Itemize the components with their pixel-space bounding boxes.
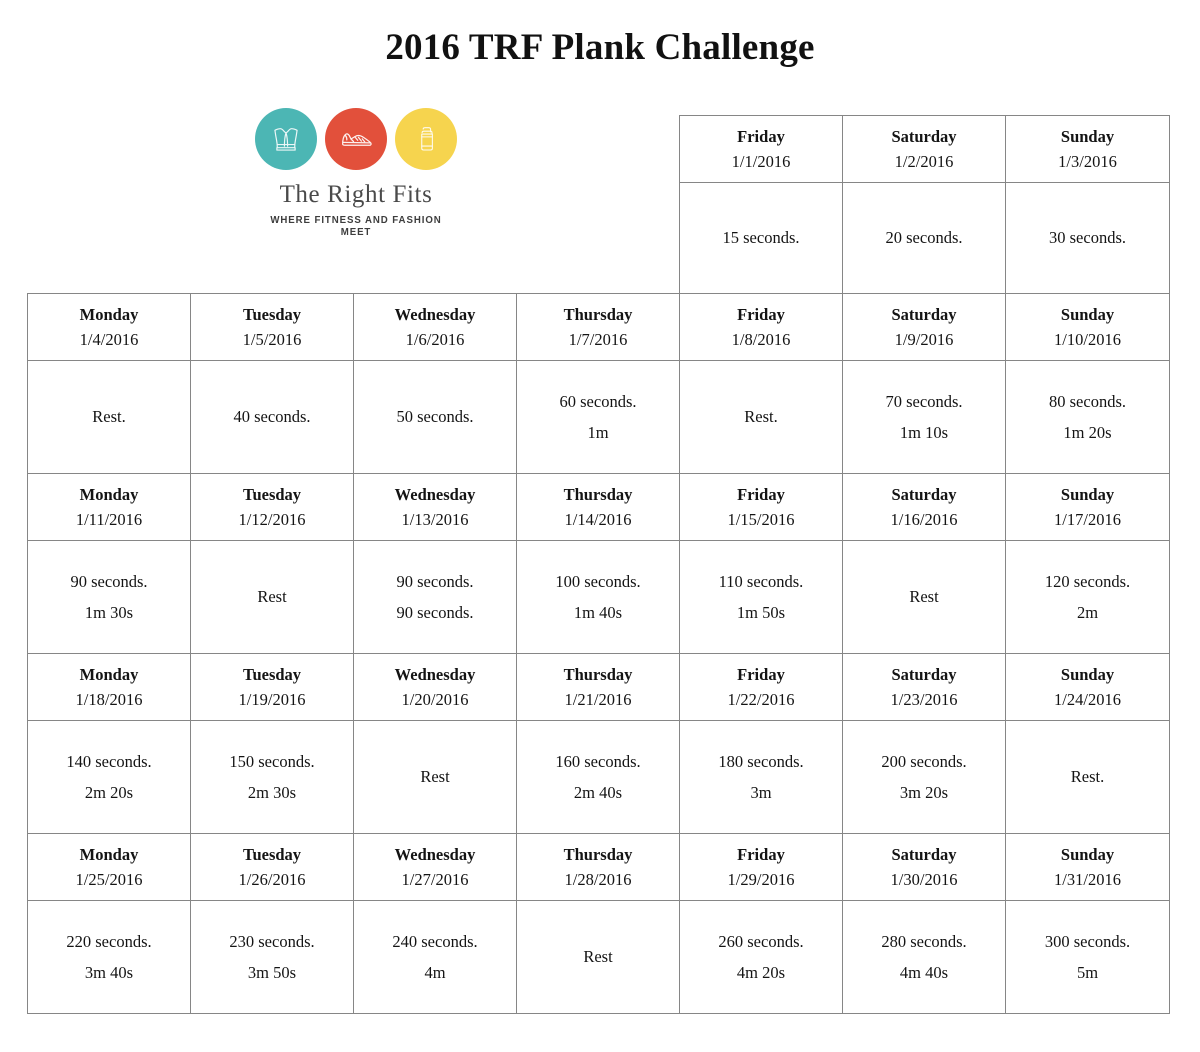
duration-cell: 60 seconds.1m xyxy=(517,361,680,474)
duration-seconds: 40 seconds. xyxy=(191,401,353,432)
day-name: Tuesday xyxy=(243,845,301,864)
duration-cell: 100 seconds.1m 40s xyxy=(517,541,680,654)
day-header-cell: Thursday1/14/2016 xyxy=(517,474,680,541)
day-name: Saturday xyxy=(891,305,956,324)
day-name: Monday xyxy=(80,485,139,504)
duration-seconds: Rest. xyxy=(28,401,190,432)
day-date: 1/15/2016 xyxy=(728,510,795,529)
day-name: Monday xyxy=(80,665,139,684)
duration-seconds: 30 seconds. xyxy=(1006,222,1169,253)
day-header-cell: Monday1/18/2016 xyxy=(28,654,191,721)
duration-minutes: 1m 20s xyxy=(1006,417,1169,448)
duration-cell: 160 seconds.2m 40s xyxy=(517,721,680,834)
day-date: 1/29/2016 xyxy=(728,870,795,889)
duration-seconds: Rest xyxy=(517,941,679,972)
running-shoe-icon xyxy=(336,119,376,159)
duration-cell: 180 seconds.3m xyxy=(680,721,843,834)
day-header-cell: Friday1/22/2016 xyxy=(680,654,843,721)
duration-seconds: 80 seconds. xyxy=(1006,386,1169,417)
day-date: 1/23/2016 xyxy=(891,690,958,709)
logo-circle-running-shoe xyxy=(325,108,387,170)
duration-cell: Rest. xyxy=(1006,721,1170,834)
day-header-cell: Sunday1/17/2016 xyxy=(1006,474,1170,541)
duration-seconds: 300 seconds. xyxy=(1006,926,1169,957)
day-name: Monday xyxy=(80,305,139,324)
duration-minutes: 2m 30s xyxy=(191,777,353,808)
duration-seconds: 50 seconds. xyxy=(354,401,516,432)
duration-minutes: 3m 40s xyxy=(28,957,190,988)
day-header-cell: Sunday1/24/2016 xyxy=(1006,654,1170,721)
duration-minutes: 4m 20s xyxy=(680,957,842,988)
duration-minutes: 1m xyxy=(517,417,679,448)
plank-table-main: Monday1/4/2016 Tuesday1/5/2016 Wednesday… xyxy=(27,293,1170,1014)
table-row-duration: 140 seconds.2m 20s 150 seconds.2m 30s Re… xyxy=(28,721,1170,834)
duration-cell: 240 seconds.4m xyxy=(354,901,517,1014)
day-name: Wednesday xyxy=(395,305,476,324)
day-date: 1/5/2016 xyxy=(243,330,302,349)
day-date: 1/31/2016 xyxy=(1054,870,1121,889)
duration-minutes: 2m 20s xyxy=(28,777,190,808)
day-name: Friday xyxy=(737,127,785,146)
logo-circle-water-bottle xyxy=(395,108,457,170)
duration-minutes: 5m xyxy=(1006,957,1169,988)
duration-minutes: 1m 40s xyxy=(517,597,679,628)
day-header-cell: Sunday 1/3/2016 xyxy=(1006,116,1170,183)
day-date: 1/24/2016 xyxy=(1054,690,1121,709)
day-header-cell: Saturday1/9/2016 xyxy=(843,294,1006,361)
day-name: Thursday xyxy=(564,305,633,324)
day-header-cell: Saturday 1/2/2016 xyxy=(843,116,1006,183)
duration-minutes: 90 seconds. xyxy=(354,597,516,628)
day-date: 1/1/2016 xyxy=(732,152,791,171)
duration-minutes: 1m 10s xyxy=(843,417,1005,448)
duration-cell: 110 seconds.1m 50s xyxy=(680,541,843,654)
day-date: 1/12/2016 xyxy=(239,510,306,529)
duration-seconds: 150 seconds. xyxy=(191,746,353,777)
day-date: 1/3/2016 xyxy=(1058,152,1117,171)
logo-circle-sports-bra xyxy=(255,108,317,170)
day-header-cell: Tuesday1/5/2016 xyxy=(191,294,354,361)
day-header-cell: Wednesday1/6/2016 xyxy=(354,294,517,361)
day-date: 1/11/2016 xyxy=(76,510,142,529)
day-name: Wednesday xyxy=(395,665,476,684)
day-name: Friday xyxy=(737,305,785,324)
duration-seconds: Rest xyxy=(354,761,516,792)
duration-cell: 90 seconds.90 seconds. xyxy=(354,541,517,654)
plank-table-week-0: Friday 1/1/2016 Saturday 1/2/2016 Sunday… xyxy=(679,115,1170,294)
duration-cell: Rest. xyxy=(680,361,843,474)
day-header-cell: Tuesday1/12/2016 xyxy=(191,474,354,541)
duration-seconds: 110 seconds. xyxy=(680,566,842,597)
duration-seconds: 90 seconds. xyxy=(28,566,190,597)
day-name: Saturday xyxy=(891,127,956,146)
duration-minutes: 2m xyxy=(1006,597,1169,628)
day-name: Sunday xyxy=(1061,485,1114,504)
day-header-cell: Thursday1/7/2016 xyxy=(517,294,680,361)
day-header-cell: Monday1/25/2016 xyxy=(28,834,191,901)
duration-minutes: 2m 40s xyxy=(517,777,679,808)
table-row-day-header: Monday1/18/2016 Tuesday1/19/2016 Wednesd… xyxy=(28,654,1170,721)
day-name: Wednesday xyxy=(395,485,476,504)
duration-cell: 40 seconds. xyxy=(191,361,354,474)
day-header-cell: Tuesday1/19/2016 xyxy=(191,654,354,721)
day-header-cell: Monday1/4/2016 xyxy=(28,294,191,361)
day-date: 1/6/2016 xyxy=(406,330,465,349)
duration-cell: 220 seconds.3m 40s xyxy=(28,901,191,1014)
duration-seconds: 100 seconds. xyxy=(517,566,679,597)
day-date: 1/20/2016 xyxy=(402,690,469,709)
duration-minutes: 1m 30s xyxy=(28,597,190,628)
table-row-duration: 15 seconds. 20 seconds. 30 seconds. xyxy=(680,183,1170,294)
duration-minutes: 4m xyxy=(354,957,516,988)
day-header-cell: Friday1/29/2016 xyxy=(680,834,843,901)
duration-cell: Rest. xyxy=(28,361,191,474)
day-header-cell: Wednesday1/20/2016 xyxy=(354,654,517,721)
day-header-cell: Thursday1/28/2016 xyxy=(517,834,680,901)
duration-cell: Rest xyxy=(843,541,1006,654)
day-header-cell: Tuesday1/26/2016 xyxy=(191,834,354,901)
duration-seconds: 160 seconds. xyxy=(517,746,679,777)
day-name: Thursday xyxy=(564,845,633,864)
day-name: Saturday xyxy=(891,485,956,504)
logo-icon-row xyxy=(250,108,462,170)
day-header-cell: Sunday1/10/2016 xyxy=(1006,294,1170,361)
duration-seconds: 220 seconds. xyxy=(28,926,190,957)
duration-seconds: 120 seconds. xyxy=(1006,566,1169,597)
duration-cell: 140 seconds.2m 20s xyxy=(28,721,191,834)
table-row-day-header: Monday1/25/2016 Tuesday1/26/2016 Wednesd… xyxy=(28,834,1170,901)
day-name: Tuesday xyxy=(243,305,301,324)
duration-cell: 280 seconds.4m 40s xyxy=(843,901,1006,1014)
day-name: Sunday xyxy=(1061,665,1114,684)
duration-cell: 150 seconds.2m 30s xyxy=(191,721,354,834)
day-header-cell: Friday1/15/2016 xyxy=(680,474,843,541)
logo-wordmark: The Right Fits xyxy=(250,181,462,209)
duration-seconds: 140 seconds. xyxy=(28,746,190,777)
duration-seconds: 60 seconds. xyxy=(517,386,679,417)
day-date: 1/30/2016 xyxy=(891,870,958,889)
duration-seconds: 20 seconds. xyxy=(843,222,1005,253)
day-header-cell: Friday 1/1/2016 xyxy=(680,116,843,183)
duration-seconds: 240 seconds. xyxy=(354,926,516,957)
day-header-cell: Wednesday1/27/2016 xyxy=(354,834,517,901)
duration-seconds: 280 seconds. xyxy=(843,926,1005,957)
duration-cell: 15 seconds. xyxy=(680,183,843,294)
day-date: 1/19/2016 xyxy=(239,690,306,709)
sports-bra-icon xyxy=(267,120,305,158)
duration-seconds: Rest xyxy=(191,581,353,612)
day-date: 1/26/2016 xyxy=(239,870,306,889)
day-date: 1/16/2016 xyxy=(891,510,958,529)
duration-minutes: 3m 20s xyxy=(843,777,1005,808)
duration-cell: 260 seconds.4m 20s xyxy=(680,901,843,1014)
table-row-day-header: Monday1/4/2016 Tuesday1/5/2016 Wednesday… xyxy=(28,294,1170,361)
day-name: Friday xyxy=(737,665,785,684)
table-row-duration: 220 seconds.3m 40s 230 seconds.3m 50s 24… xyxy=(28,901,1170,1014)
day-header-cell: Sunday1/31/2016 xyxy=(1006,834,1170,901)
table-row-day-header: Monday1/11/2016 Tuesday1/12/2016 Wednesd… xyxy=(28,474,1170,541)
day-header-cell: Saturday1/30/2016 xyxy=(843,834,1006,901)
day-name: Saturday xyxy=(891,665,956,684)
duration-cell: Rest xyxy=(354,721,517,834)
duration-seconds: 180 seconds. xyxy=(680,746,842,777)
day-date: 1/7/2016 xyxy=(569,330,628,349)
duration-cell: 90 seconds.1m 30s xyxy=(28,541,191,654)
duration-seconds: 15 seconds. xyxy=(680,222,842,253)
day-date: 1/2/2016 xyxy=(895,152,954,171)
page-title: 2016 TRF Plank Challenge xyxy=(0,26,1200,69)
duration-cell: 20 seconds. xyxy=(843,183,1006,294)
day-date: 1/8/2016 xyxy=(732,330,791,349)
day-name: Friday xyxy=(737,845,785,864)
day-date: 1/10/2016 xyxy=(1054,330,1121,349)
day-date: 1/21/2016 xyxy=(565,690,632,709)
duration-seconds: 200 seconds. xyxy=(843,746,1005,777)
duration-seconds: 70 seconds. xyxy=(843,386,1005,417)
duration-seconds: 260 seconds. xyxy=(680,926,842,957)
day-name: Monday xyxy=(80,845,139,864)
day-header-cell: Friday1/8/2016 xyxy=(680,294,843,361)
day-name: Tuesday xyxy=(243,485,301,504)
duration-cell: 70 seconds.1m 10s xyxy=(843,361,1006,474)
day-name: Sunday xyxy=(1061,305,1114,324)
duration-minutes: 3m 50s xyxy=(191,957,353,988)
duration-cell: 200 seconds.3m 20s xyxy=(843,721,1006,834)
duration-cell: 300 seconds.5m xyxy=(1006,901,1170,1014)
day-name: Thursday xyxy=(564,665,633,684)
day-name: Friday xyxy=(737,485,785,504)
duration-cell: 120 seconds.2m xyxy=(1006,541,1170,654)
day-header-cell: Monday1/11/2016 xyxy=(28,474,191,541)
duration-minutes: 3m xyxy=(680,777,842,808)
day-name: Sunday xyxy=(1061,127,1114,146)
day-date: 1/17/2016 xyxy=(1054,510,1121,529)
water-bottle-icon xyxy=(409,122,443,156)
day-date: 1/22/2016 xyxy=(728,690,795,709)
day-header-cell: Saturday1/16/2016 xyxy=(843,474,1006,541)
duration-seconds: Rest. xyxy=(680,401,842,432)
day-header-cell: Saturday1/23/2016 xyxy=(843,654,1006,721)
day-name: Tuesday xyxy=(243,665,301,684)
table-row-day-header: Friday 1/1/2016 Saturday 1/2/2016 Sunday… xyxy=(680,116,1170,183)
duration-seconds: 230 seconds. xyxy=(191,926,353,957)
day-date: 1/27/2016 xyxy=(402,870,469,889)
day-date: 1/13/2016 xyxy=(402,510,469,529)
duration-cell: 80 seconds.1m 20s xyxy=(1006,361,1170,474)
duration-seconds: Rest xyxy=(843,581,1005,612)
day-name: Thursday xyxy=(564,485,633,504)
brand-logo: The Right Fits WHERE FITNESS AND FASHION… xyxy=(250,108,462,238)
day-date: 1/9/2016 xyxy=(895,330,954,349)
duration-minutes: 4m 40s xyxy=(843,957,1005,988)
duration-cell: Rest xyxy=(191,541,354,654)
duration-cell: 50 seconds. xyxy=(354,361,517,474)
day-header-cell: Thursday1/21/2016 xyxy=(517,654,680,721)
duration-seconds: Rest. xyxy=(1006,761,1169,792)
duration-cell: Rest xyxy=(517,901,680,1014)
day-date: 1/18/2016 xyxy=(76,690,143,709)
day-date: 1/4/2016 xyxy=(80,330,139,349)
table-row-duration: 90 seconds.1m 30s Rest 90 seconds.90 sec… xyxy=(28,541,1170,654)
day-date: 1/14/2016 xyxy=(565,510,632,529)
logo-tagline: WHERE FITNESS AND FASHION MEET xyxy=(258,214,453,238)
duration-minutes: 1m 50s xyxy=(680,597,842,628)
day-name: Wednesday xyxy=(395,845,476,864)
table-row-duration: Rest. 40 seconds. 50 seconds. 60 seconds… xyxy=(28,361,1170,474)
day-date: 1/25/2016 xyxy=(76,870,143,889)
day-name: Saturday xyxy=(891,845,956,864)
duration-cell: 30 seconds. xyxy=(1006,183,1170,294)
duration-cell: 230 seconds.3m 50s xyxy=(191,901,354,1014)
duration-seconds: 90 seconds. xyxy=(354,566,516,597)
day-header-cell: Wednesday1/13/2016 xyxy=(354,474,517,541)
day-date: 1/28/2016 xyxy=(565,870,632,889)
day-name: Sunday xyxy=(1061,845,1114,864)
